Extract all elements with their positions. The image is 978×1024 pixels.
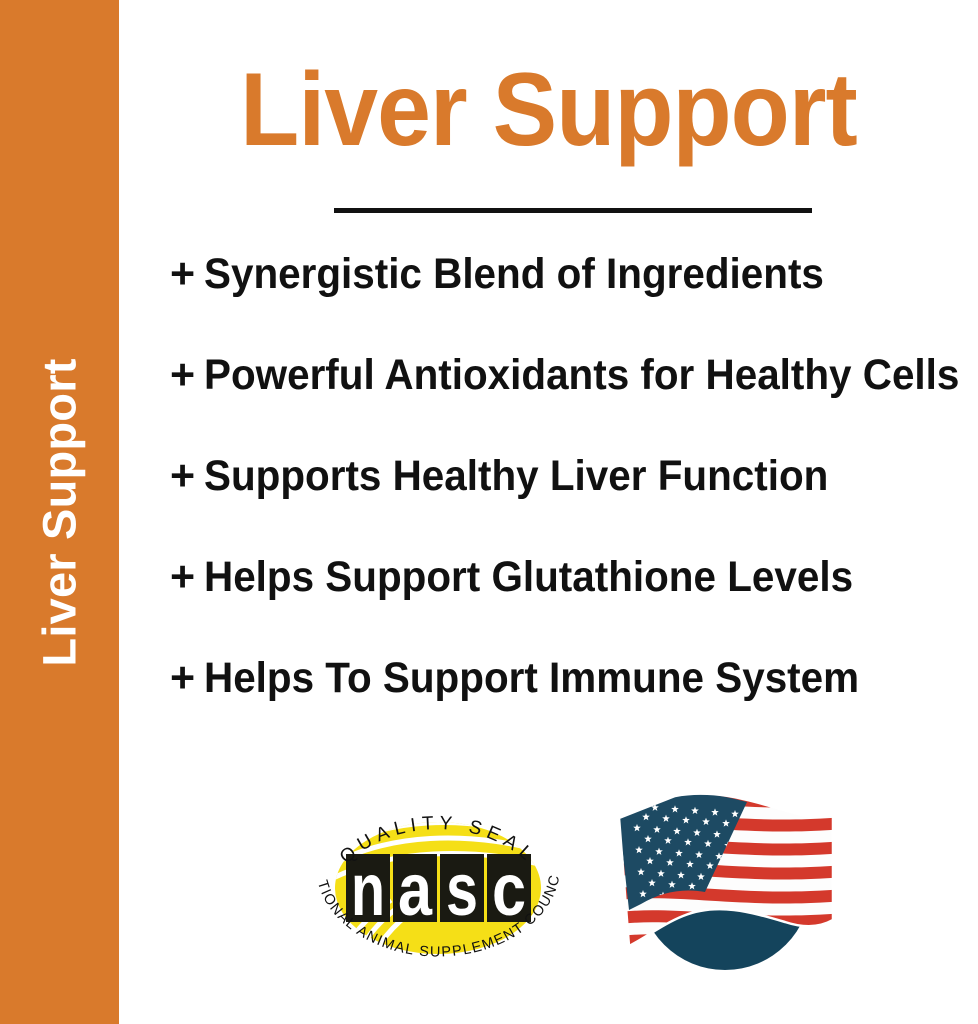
content-column: Liver Support + Synergistic Blend of Ing…	[119, 0, 978, 1024]
usa-flag-icon	[605, 788, 845, 980]
list-item: + Helps To Support Immune System	[170, 657, 978, 758]
list-item-label: Helps Support Glutathione Levels	[204, 556, 853, 599]
side-band-label-wrap: Liver Support	[0, 0, 119, 1024]
page-title: Liver Support	[149, 56, 948, 165]
list-item: + Supports Healthy Liver Function	[170, 455, 978, 556]
star-icon	[631, 802, 639, 809]
list-item: + Powerful Antioxidants for Healthy Cell…	[170, 354, 978, 455]
logo-strip: n a s c QUALITY SEAL NATIONAL ANIMAL SUP…	[119, 780, 978, 990]
list-item-label: Powerful Antioxidants for Healthy Cells	[204, 354, 959, 397]
side-band-label: Liver Support	[32, 358, 87, 666]
svg-text:s: s	[446, 848, 478, 931]
nasc-seal-icon: n a s c QUALITY SEAL NATIONAL ANIMAL SUP…	[305, 790, 571, 980]
plus-icon: +	[170, 455, 195, 498]
title-divider	[334, 208, 812, 213]
list-item-label: Supports Healthy Liver Function	[204, 455, 828, 498]
plus-icon: +	[170, 556, 195, 599]
side-band: Liver Support	[0, 0, 119, 1024]
list-item-label: Helps To Support Immune System	[204, 657, 859, 700]
plus-icon: +	[170, 253, 195, 296]
benefits-list: + Synergistic Blend of Ingredients + Pow…	[170, 253, 978, 758]
product-panel: Liver Support Liver Support + Synergisti…	[0, 0, 978, 1024]
plus-icon: +	[170, 657, 195, 700]
list-item-label: Synergistic Blend of Ingredients	[204, 253, 824, 296]
list-item: + Synergistic Blend of Ingredients	[170, 253, 978, 354]
list-item: + Helps Support Glutathione Levels	[170, 556, 978, 657]
plus-icon: +	[170, 354, 195, 397]
svg-text:a: a	[398, 848, 433, 931]
